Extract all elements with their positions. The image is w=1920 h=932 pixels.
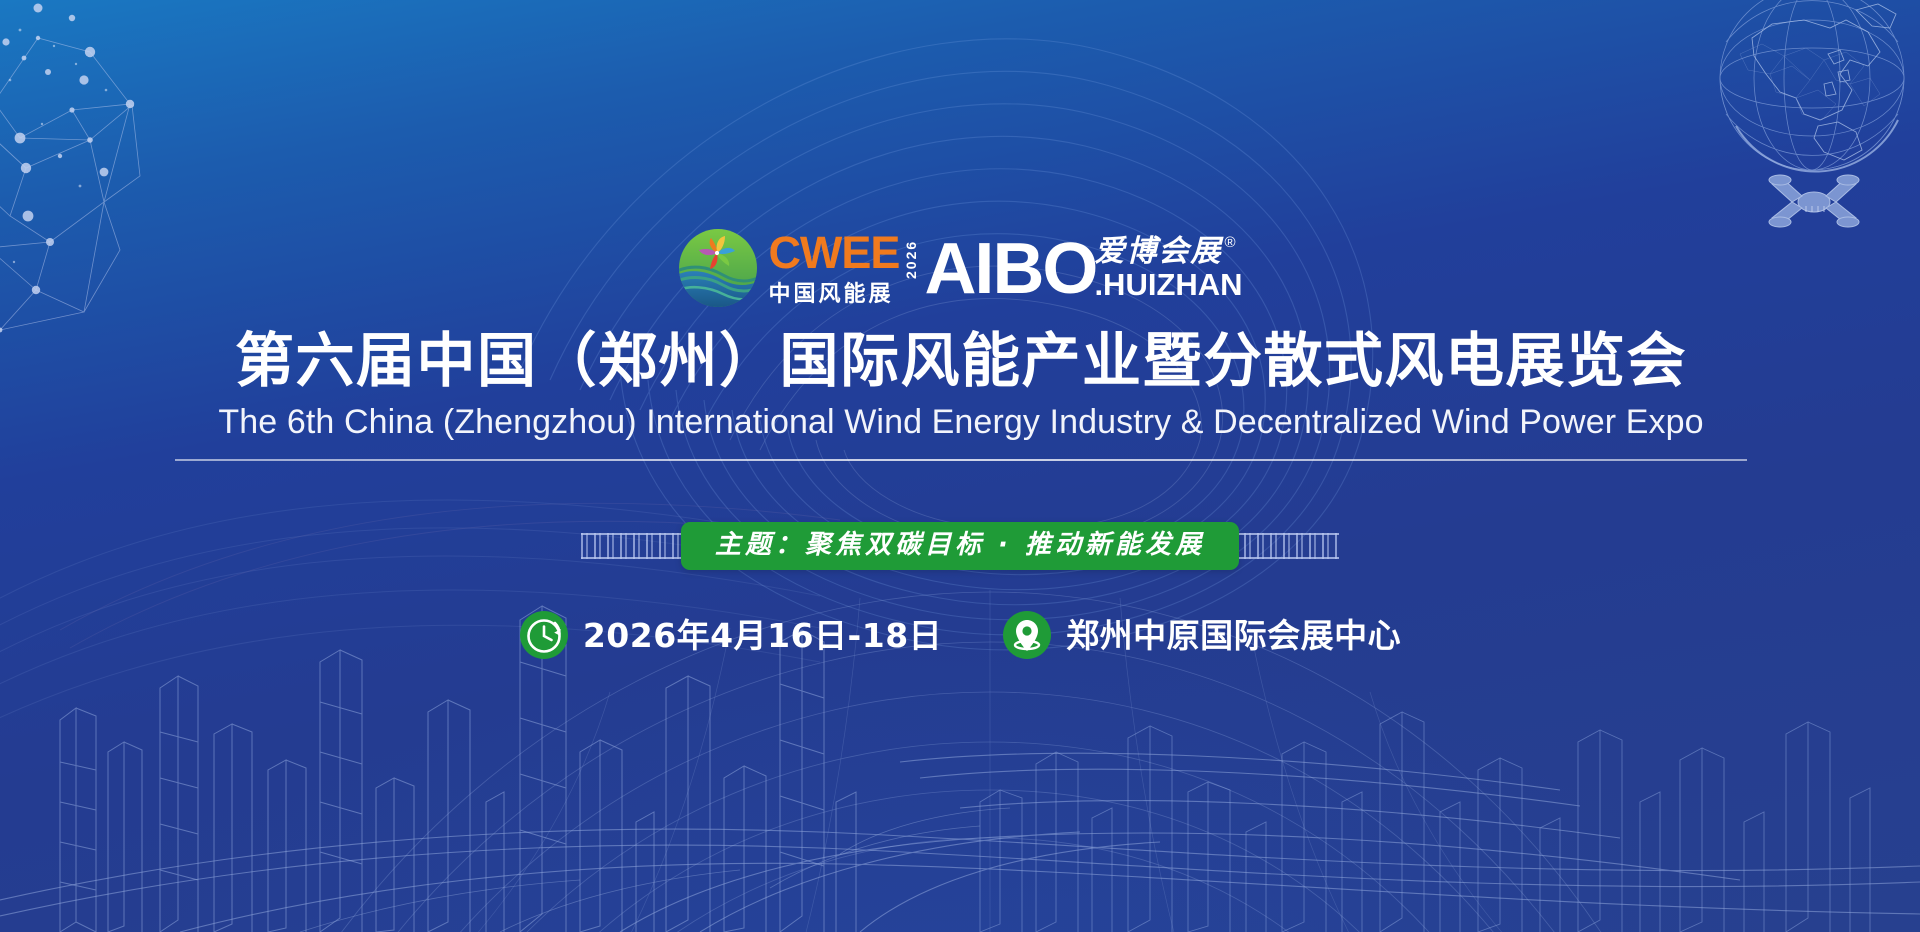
cwee-chinese-name: 中国风能展 [768, 284, 918, 306]
cwee-year: 2026 [904, 231, 918, 279]
cwee-logo-lockup: CWEE 2026 中国风能展 [677, 227, 918, 309]
registered-trademark-icon: ® [1224, 235, 1235, 250]
logo-row: CWEE 2026 中国风能展 AIBO 爱博会展 ® .HUIZHAN [0, 220, 1920, 316]
aibo-wordmark: AIBO [924, 240, 1096, 299]
event-info-row: 2026年4月16日-18日 郑州中原国际会展中心 [0, 600, 1920, 670]
map-pin-icon [1002, 610, 1052, 660]
aibo-pinyin: .HUIZHAN [1094, 269, 1242, 300]
ribbon-tail-right [1231, 533, 1339, 559]
cwee-globe-windmill-emblem [677, 227, 759, 309]
theme-ribbon: 主题：聚焦双碳目标 · 推动新能发展 [0, 515, 1920, 577]
theme-badge: 主题：聚焦双碳目标 · 推动新能发展 [681, 522, 1239, 570]
event-date-text: 2026年4月16日-18日 [583, 619, 942, 652]
divider [175, 459, 1747, 461]
cwee-wordmark: CWEE 2026 中国风能展 [768, 231, 918, 306]
aibo-logo-lockup: AIBO 爱博会展 ® .HUIZHAN [924, 237, 1242, 300]
event-venue-text: 郑州中原国际会展中心 [1066, 619, 1401, 652]
event-venue: 郑州中原国际会展中心 [1002, 610, 1401, 660]
ribbon-tail-left [581, 533, 689, 559]
page-subtitle: The 6th China (Zhengzhou) International … [175, 401, 1747, 444]
cwee-acronym: CWEE [768, 231, 899, 274]
headline-block: 第六届中国（郑州）国际风能产业暨分散式风电展览会 The 6th China (… [175, 330, 1747, 461]
expo-banner: CWEE 2026 中国风能展 AIBO 爱博会展 ® .HUIZHAN [0, 0, 1920, 932]
event-date: 2026年4月16日-18日 [519, 610, 942, 660]
clock-icon [519, 610, 569, 660]
aibo-chinese-name: 爱博会展 [1094, 237, 1222, 267]
cwee-top-row: CWEE 2026 [768, 231, 918, 279]
theme-label: 主题：聚焦双碳目标 · 推动新能发展 [715, 532, 1205, 558]
aibo-chinese-row: 爱博会展 ® [1094, 237, 1235, 267]
page-title: 第六届中国（郑州）国际风能产业暨分散式风电展览会 [175, 330, 1747, 393]
banner-content: CWEE 2026 中国风能展 AIBO 爱博会展 ® .HUIZHAN [0, 0, 1920, 932]
aibo-secondary: 爱博会展 ® .HUIZHAN [1094, 237, 1242, 300]
